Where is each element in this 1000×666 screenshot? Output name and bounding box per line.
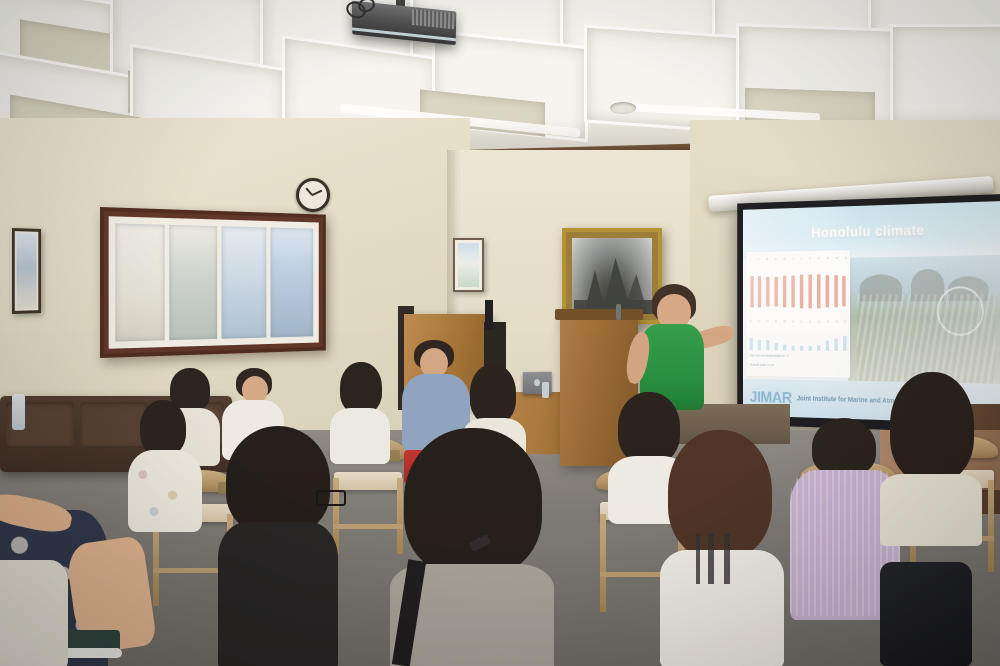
chart-value-labels: 272727282930313131302927 <box>750 320 847 327</box>
watermark-logo-icon <box>937 286 984 336</box>
chart-month-label: M <box>766 258 768 261</box>
chart-value-label: 28 <box>775 321 777 328</box>
chart-rain-bar <box>826 340 829 351</box>
chart-bar <box>842 265 846 316</box>
chart-rain-bar <box>800 345 803 350</box>
chart-month-label: N <box>836 257 838 260</box>
lectern-mic-icon <box>616 304 621 320</box>
chart-value-label: 29 <box>835 321 837 328</box>
chart-rain-bar <box>817 345 820 351</box>
chart-rain-bar <box>766 340 769 351</box>
water-bottle-icon <box>12 394 25 430</box>
chart-bar <box>808 266 812 317</box>
chart-bar <box>783 266 787 317</box>
glasses-icon <box>316 490 346 506</box>
chart-month-label: J <box>792 258 793 261</box>
chart-rain-bar <box>750 338 753 351</box>
audience-member <box>880 372 984 542</box>
chart-value-label: 27 <box>844 321 846 328</box>
wall-clock-icon <box>296 178 330 212</box>
chart-value-label: 30 <box>826 321 828 328</box>
large-framed-artwork <box>100 207 326 358</box>
chart-month-label: J <box>801 258 802 261</box>
chart-value-label: 27 <box>750 320 752 326</box>
chart-month-label: D <box>845 257 847 260</box>
chart-month-label: A <box>775 258 776 261</box>
chart-rain-bar <box>783 344 786 350</box>
chart-bar <box>750 267 754 317</box>
chart-bar <box>816 266 820 317</box>
patterned-blouse-texture <box>128 450 202 532</box>
chart-month-label: A <box>809 257 810 260</box>
climate-chart: JFMAMJJASOND 272727282930313131302927 Ma… <box>746 250 850 378</box>
chart-value-label: 29 <box>783 321 785 328</box>
ceiling-speaker-icon <box>610 102 636 114</box>
black-backpack-icon <box>880 562 972 666</box>
chart-bar <box>834 266 838 317</box>
chart-value-label: 30 <box>792 321 794 328</box>
chart-rain-bar <box>834 339 837 351</box>
chart-month-label: M <box>783 258 785 261</box>
chart-value-label: 31 <box>800 321 802 328</box>
chart-month-labels: JFMAMJJASOND <box>750 254 847 264</box>
audience-member <box>218 426 340 666</box>
chart-month-label: S <box>818 257 819 260</box>
chart-bar <box>758 267 762 317</box>
chart-caption-2: Rainfall totals in mm <box>750 363 774 367</box>
slide-title: Honolulu climate <box>811 222 924 241</box>
chart-bar <box>766 267 770 317</box>
chart-value-label: 27 <box>758 320 760 326</box>
chart-rain-bar <box>775 343 778 350</box>
water-bottle-icon <box>542 382 549 398</box>
wall-monitor <box>485 300 493 330</box>
chart-bar <box>774 266 778 316</box>
chart-month-label: J <box>750 259 751 262</box>
tshirt-graphic <box>690 534 752 584</box>
chart-value-label: 31 <box>809 321 811 328</box>
chart-bar <box>799 266 803 317</box>
chart-rain-bar <box>758 340 761 351</box>
chart-month-label: O <box>827 257 829 260</box>
chart-temperature-bars <box>750 265 847 316</box>
small-framed-picture-left <box>12 228 41 314</box>
chart-bar <box>825 266 829 317</box>
audience-member <box>0 560 70 666</box>
chart-month-label: F <box>758 258 759 261</box>
chart-bar <box>791 266 795 317</box>
chart-rain-bar <box>808 346 811 351</box>
chart-rain-bar <box>791 346 794 351</box>
chart-rainfall-bars <box>750 333 847 351</box>
honolulu-aerial-photo <box>848 255 1000 384</box>
chart-value-label: 31 <box>818 321 820 328</box>
chart-rain-bar <box>843 336 847 351</box>
chart-caption-1: Max and min temperatures in °C <box>750 354 788 358</box>
chart-value-label: 27 <box>766 321 768 328</box>
presentation-room-photo: Honolulu climate JFMAMJJASOND 2727272829… <box>0 0 1000 666</box>
small-framed-picture-mid <box>453 238 484 292</box>
